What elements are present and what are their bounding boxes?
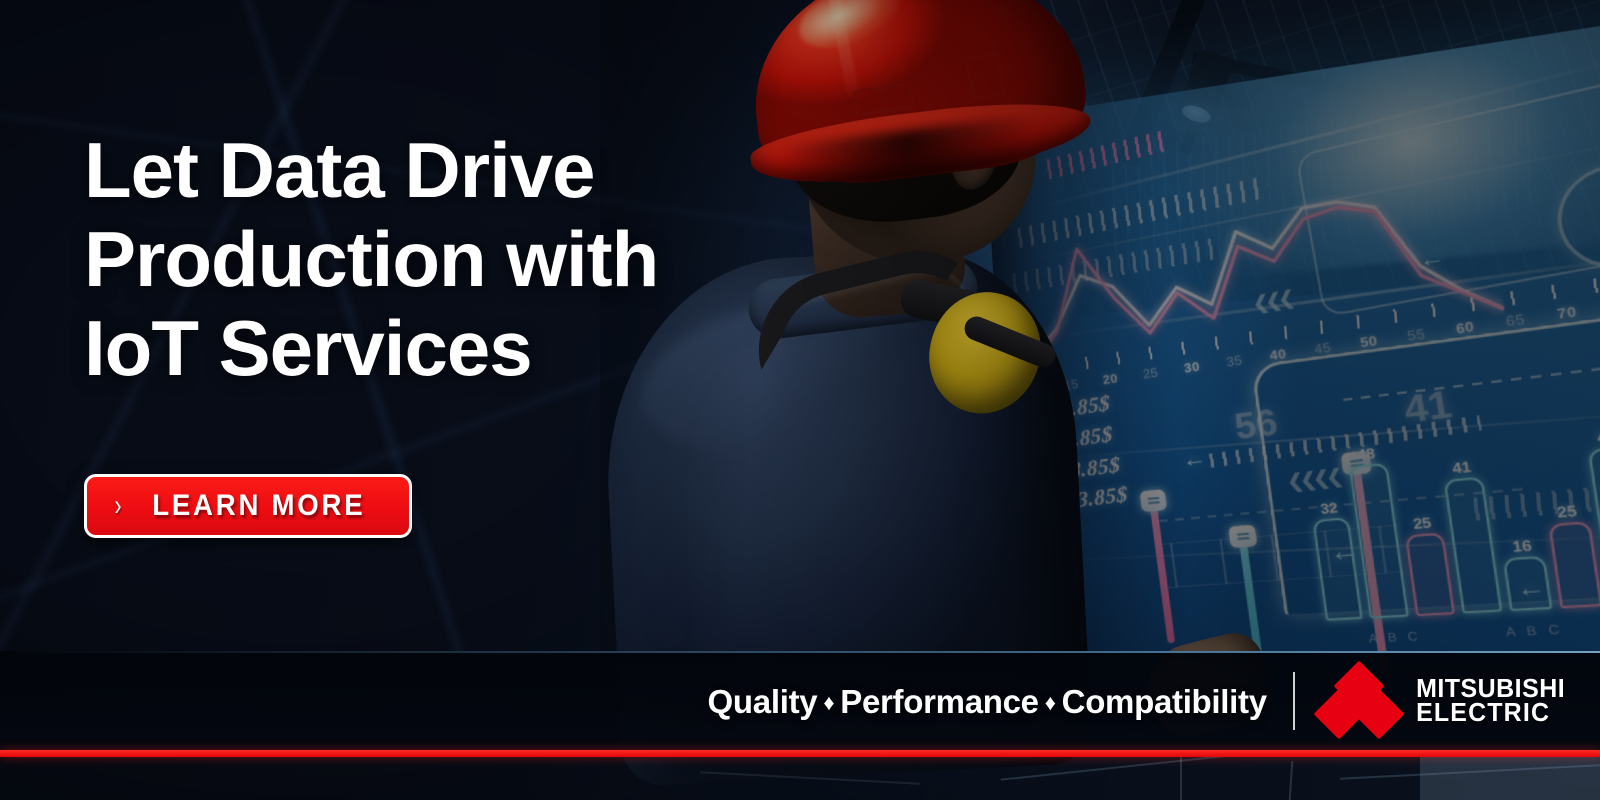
page-title: Let Data DriveProduction withIoT Service…	[84, 126, 744, 393]
footer-divider	[1293, 672, 1295, 730]
red-accent-line	[0, 750, 1600, 757]
strip-rail	[1001, 757, 1300, 781]
tagline-word-2: Performance	[840, 683, 1038, 720]
strip-rail	[700, 771, 920, 785]
strip-mesh	[1420, 757, 1600, 800]
three-diamonds-icon	[1321, 670, 1397, 732]
logo-line-2: ELECTRIC	[1416, 701, 1565, 725]
chevron-right-icon: ›	[115, 491, 122, 521]
footer-bar: Quality♦Performance♦Compatibility MITSUB…	[0, 651, 1600, 751]
brand-tagline: Quality♦Performance♦Compatibility	[708, 685, 1267, 718]
headline-line-2: Production with	[84, 215, 744, 304]
headline-line-3: IoT Services	[84, 304, 744, 393]
tagline-separator-icon: ♦	[817, 690, 840, 715]
bottom-industrial-strip	[0, 757, 1600, 800]
learn-more-button[interactable]: › LEARN MORE	[84, 474, 412, 538]
marketing-banner: 101520253035404550556065707580 1. 7.85$ …	[0, 0, 1600, 800]
logo-wordmark: MITSUBISHI ELECTRIC	[1416, 677, 1565, 725]
strip-rail	[1289, 761, 1294, 800]
tagline-word-3: Compatibility	[1062, 683, 1267, 720]
tagline-word-1: Quality	[708, 683, 818, 720]
mitsubishi-electric-logo[interactable]: MITSUBISHI ELECTRIC	[1321, 670, 1568, 732]
tagline-separator-icon: ♦	[1039, 690, 1062, 715]
learn-more-label: LEARN MORE	[152, 491, 365, 521]
headline-line-1: Let Data Drive	[84, 126, 744, 215]
strip-rail	[1180, 757, 1182, 800]
